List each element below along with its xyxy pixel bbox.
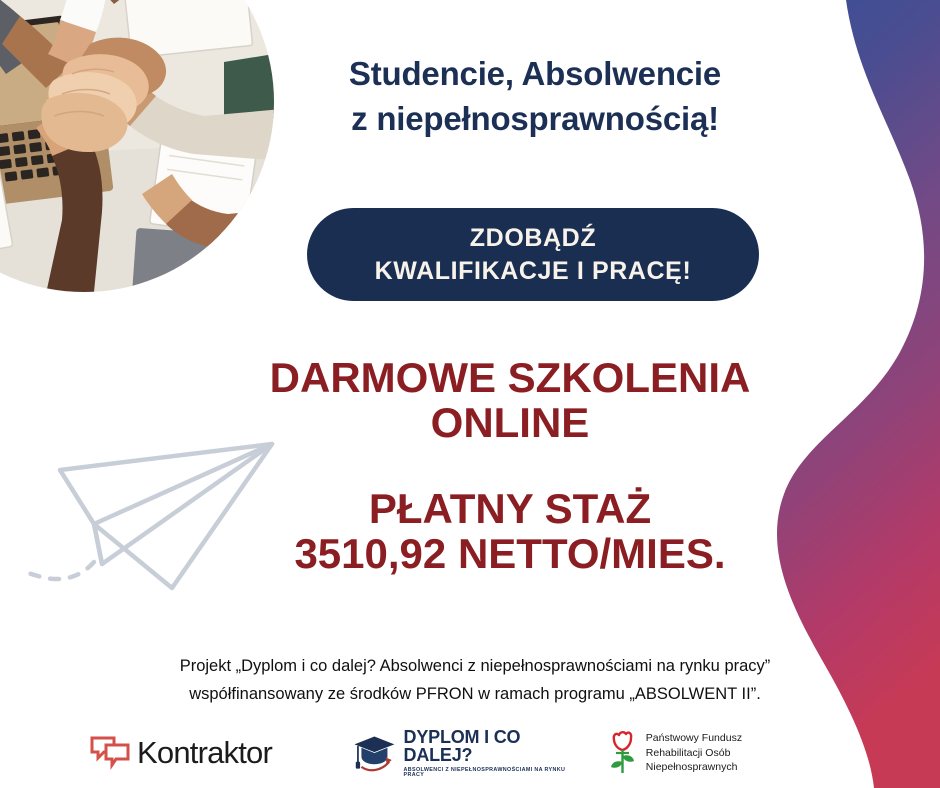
cta-line-1: ZDOBĄDŹ <box>470 222 596 255</box>
team-hands-stacked-photo <box>0 0 274 292</box>
headline-line-1: Studencie, Absolwencie <box>349 55 721 92</box>
speech-bubbles-icon <box>90 735 132 771</box>
offer-internship-line-2: 3510,92 NETTO/MIES. <box>150 532 870 577</box>
promotional-poster: Studencie, Absolwencie z niepełnosprawno… <box>0 0 940 788</box>
partner-logos: Kontraktor DYPLOM I CO DALEJ? ABSOLWENCI… <box>90 722 790 784</box>
team-photo-circle <box>0 0 274 292</box>
pfron-line-1: Państwowy Fundusz <box>646 731 742 746</box>
offer-training-line-2: ONLINE <box>150 401 870 446</box>
cta-button[interactable]: ZDOBĄDŹ KWALIFIKACJE I PRACĘ! <box>307 208 759 301</box>
offer-training-line-1: DARMOWE SZKOLENIA <box>150 356 870 401</box>
logo-dyplom-i-co-dalej: DYPLOM I CO DALEJ? ABSOLWENCI Z NIEPEŁNO… <box>351 728 569 779</box>
tulip-icon <box>607 730 639 776</box>
offer-training: DARMOWE SZKOLENIA ONLINE <box>150 356 870 445</box>
poster-headline: Studencie, Absolwencie z niepełnosprawno… <box>285 52 785 142</box>
project-funding-note: Projekt „Dyplom i co dalej? Absolwenci z… <box>80 652 870 709</box>
graduation-cap-icon <box>351 729 398 777</box>
headline-line-2: z niepełnosprawnością! <box>285 97 785 142</box>
logo-kontraktor: Kontraktor <box>90 735 291 771</box>
cta-line-2: KWALIFIKACJE I PRACĘ! <box>375 255 692 288</box>
pfron-wordmark: Państwowy Fundusz Rehabilitacji Osób Nie… <box>646 731 742 776</box>
offer-internship: PŁATNY STAŻ 3510,92 NETTO/MIES. <box>150 487 870 576</box>
pfron-line-2: Rehabilitacji Osób <box>646 746 742 761</box>
offer-internship-line-1: PŁATNY STAŻ <box>150 487 870 532</box>
dyplom-wordmark: DYPLOM I CO DALEJ? ABSOLWENCI Z NIEPEŁNO… <box>404 728 569 779</box>
kontraktor-wordmark: Kontraktor <box>137 735 272 771</box>
dyplom-title: DYPLOM I CO DALEJ? <box>404 728 569 764</box>
dyplom-subtitle: ABSOLWENCI Z NIEPEŁNOSPRAWNOŚCIAMI NA RY… <box>404 768 569 779</box>
funding-note-line-2: współfinansowany ze środków PFRON w rama… <box>80 680 870 708</box>
pfron-line-3: Niepełnosprawnych <box>646 760 742 775</box>
logo-pfron: Państwowy Fundusz Rehabilitacji Osób Nie… <box>607 730 790 776</box>
funding-note-line-1: Projekt „Dyplom i co dalej? Absolwenci z… <box>80 652 870 680</box>
